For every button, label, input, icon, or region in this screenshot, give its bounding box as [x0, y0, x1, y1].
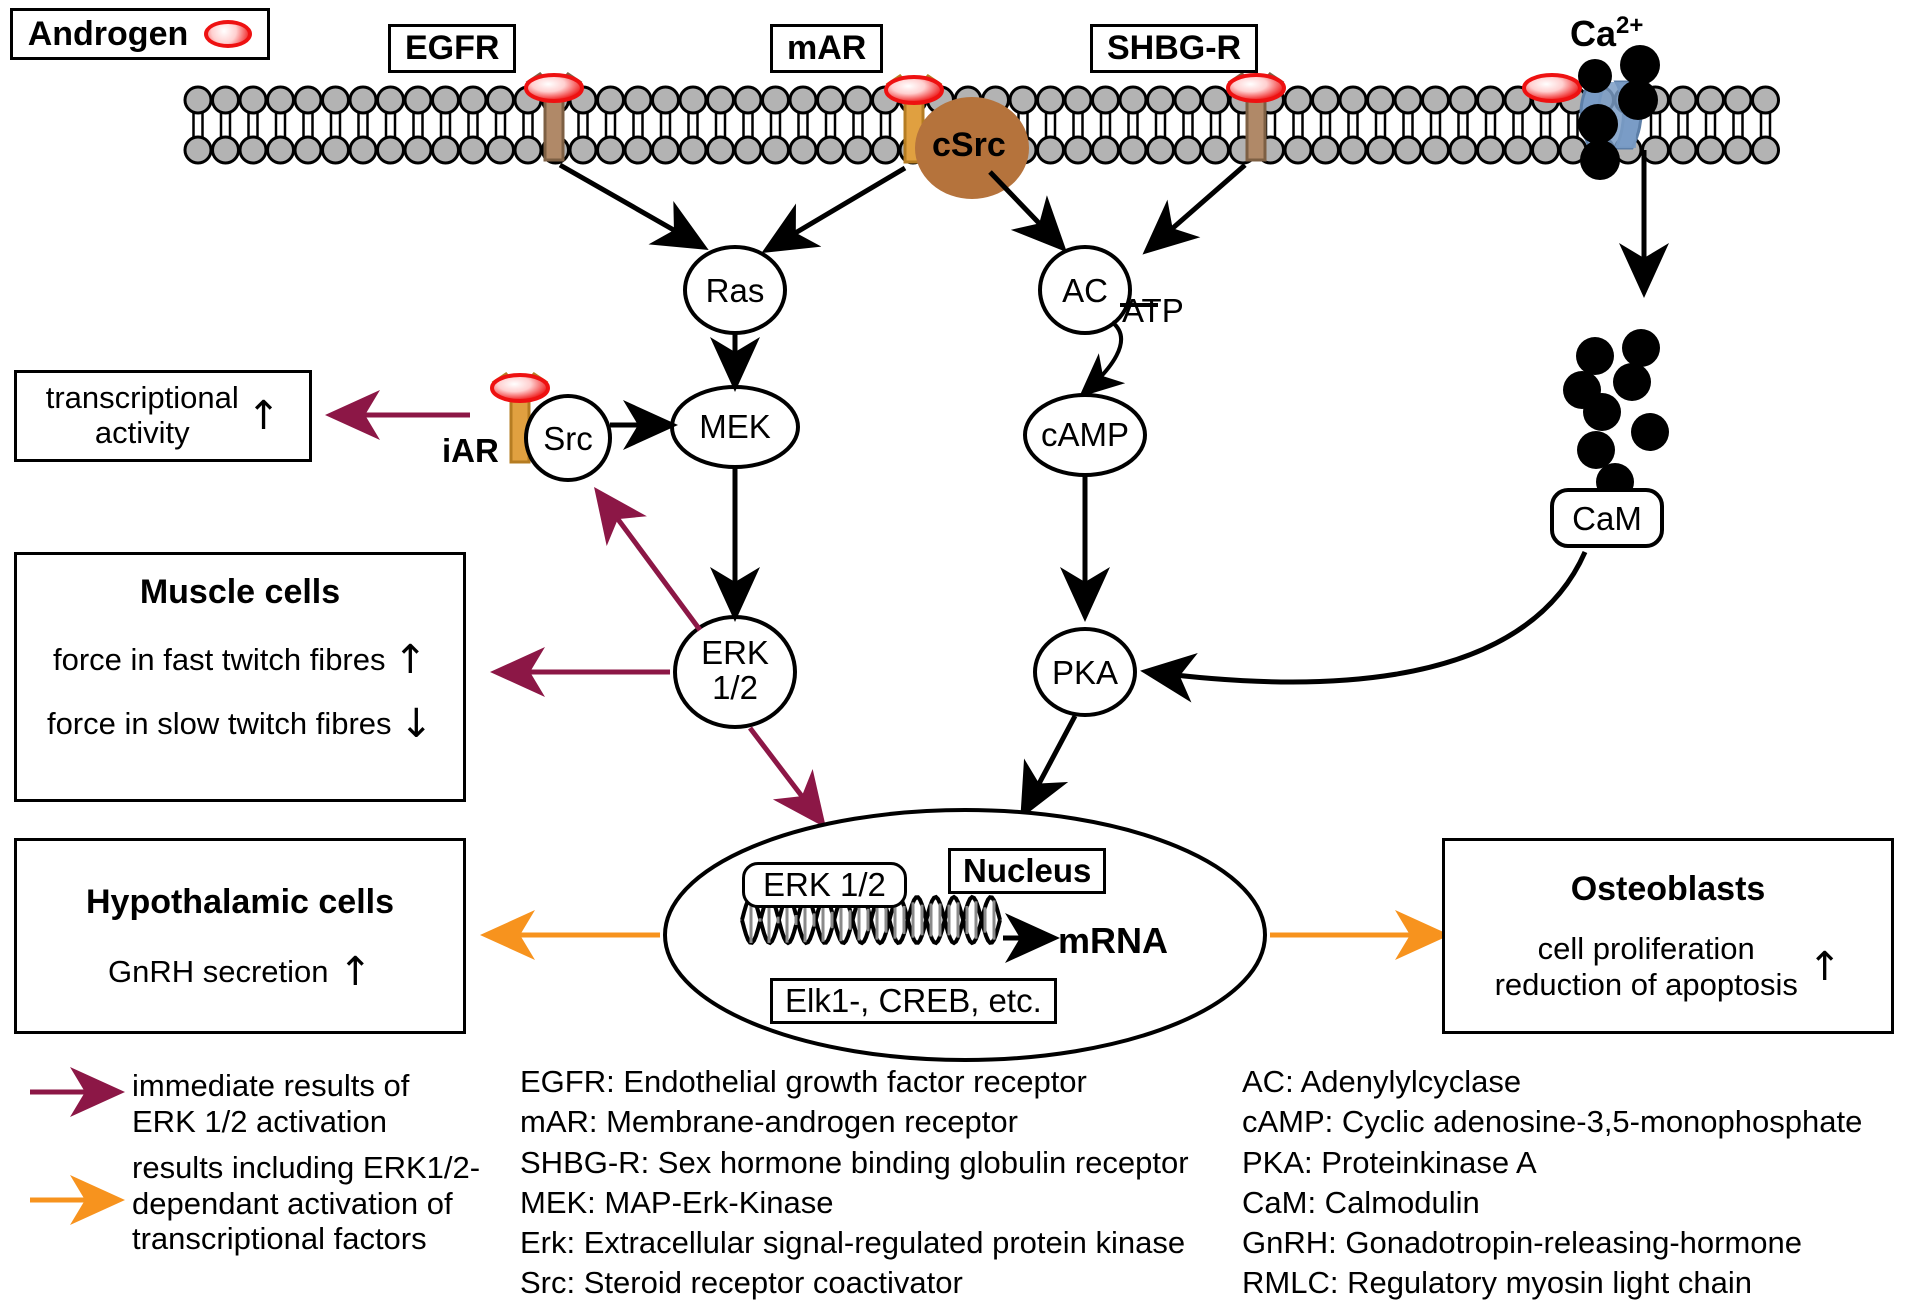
transcriptional-activity-line1: transcriptional: [46, 380, 239, 415]
arrow-up-icon: ↑: [1808, 951, 1842, 983]
calcium-ion-icon: [1578, 104, 1618, 144]
transcriptional-activity-box: transcriptional activity ↑: [14, 370, 312, 462]
transcriptional-activity-line2: activity: [95, 415, 190, 450]
arrow-pka-to-nucleus: [1025, 716, 1075, 810]
hypothalamic-cells-row-0: GnRH secretion: [108, 954, 329, 990]
label-pka: PKA: [1035, 654, 1135, 692]
label-mar: mAR: [770, 24, 883, 73]
label-mek: MEK: [672, 408, 798, 446]
calcium-ion-icon: [1580, 140, 1620, 180]
osteoblasts-row-1: reduction of apoptosis: [1495, 967, 1798, 1002]
legend-orange-text: results including ERK1/2- dependant acti…: [132, 1150, 480, 1257]
muscle-cells-box: Muscle cells force in fast twitch fibres…: [14, 552, 466, 802]
hypothalamic-cells-box: Hypothalamic cells GnRH secretion ↑: [14, 838, 466, 1034]
label-cam: CaM: [1552, 500, 1662, 538]
label-erk: ERK 1/2: [675, 636, 795, 705]
androgen-key-box: Androgen: [10, 8, 270, 60]
abbreviations-left: EGFR: Endothelial growth factor receptor…: [520, 1062, 1189, 1304]
arrow-up-icon: ↑: [394, 644, 428, 676]
pathway-diagram: Androgen EGFR mAR SHBG-R Ca2+ cSrc Ras M…: [0, 0, 1908, 1285]
androgen-ligand-icon: [1228, 75, 1284, 101]
nucleus-title: Nucleus: [948, 848, 1106, 894]
muscle-cells-row-1: force in slow twitch fibres: [47, 706, 392, 742]
label-iar: iAR: [442, 432, 499, 470]
arrow-up-icon: ↑: [247, 400, 281, 432]
legend-maroon-text: immediate results of ERK 1/2 activation: [132, 1068, 409, 1139]
arrow-up-icon: ↑: [339, 956, 373, 988]
osteoblasts-row-0: cell proliferation: [1538, 931, 1755, 966]
androgen-key-label: Androgen: [28, 15, 189, 54]
osteoblasts-title: Osteoblasts: [1571, 870, 1766, 909]
calcium-ion-icon: [1578, 59, 1612, 93]
arrow-erk-to-nucleus: [750, 728, 820, 820]
arrow-cam-to-pka: [1150, 552, 1585, 682]
label-ac: AC: [1040, 272, 1130, 310]
nucleus-factors-label: Elk1-, CREB, etc.: [770, 978, 1057, 1024]
arrow-erk-to-src: [600, 495, 700, 630]
label-src: Src: [528, 420, 608, 458]
androgen-ellipse-icon: [204, 20, 252, 48]
nucleus-mrna-label: mRNA: [1058, 920, 1168, 962]
muscle-cells-title: Muscle cells: [140, 573, 340, 612]
muscle-cells-row-0: force in fast twitch fibres: [53, 642, 386, 678]
label-shbgr: SHBG-R: [1090, 24, 1258, 73]
calcium-ion-icon: [1618, 80, 1658, 120]
arrow-csrc-to-ac: [990, 172, 1060, 245]
arrow-csrc-to-ras: [770, 168, 905, 248]
arrow-down-icon: ↓: [400, 708, 434, 740]
osteoblasts-box: Osteoblasts cell proliferation reduction…: [1442, 838, 1894, 1034]
androgen-ligand-icon: [1524, 75, 1580, 101]
arrow-egfr-to-ras: [560, 165, 700, 245]
nucleus-erk-label: ERK 1/2: [742, 862, 907, 908]
androgen-ligand-icon: [526, 75, 582, 101]
label-egfr: EGFR: [388, 24, 516, 73]
label-ras: Ras: [685, 272, 785, 310]
androgen-ligand-icon: [886, 77, 942, 103]
androgen-ligand-icon: [492, 375, 548, 401]
abbreviations-right: AC: Adenylylcyclase cAMP: Cyclic adenosi…: [1242, 1062, 1862, 1304]
label-calcium: Ca2+: [1570, 12, 1643, 55]
label-csrc: cSrc: [932, 126, 1006, 165]
label-camp: cAMP: [1025, 416, 1145, 454]
hypothalamic-cells-title: Hypothalamic cells: [86, 883, 394, 922]
label-atp: ATP: [1122, 292, 1232, 330]
arrow-shbgr-to-ac: [1150, 165, 1245, 248]
